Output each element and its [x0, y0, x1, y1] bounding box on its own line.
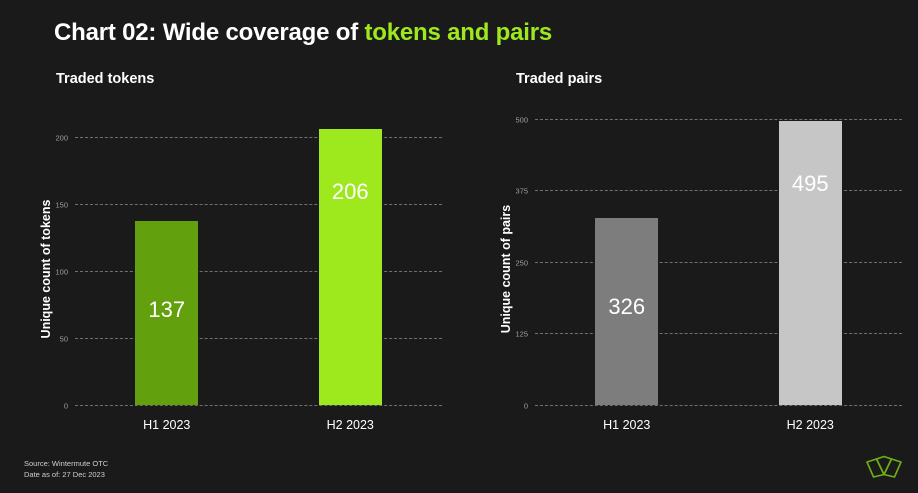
gridline-pairs-250: 250	[535, 262, 902, 263]
x-tick-label-tokens-h1-2023: H1 2023	[143, 418, 190, 432]
x-tick-label-pairs-h2-2023: H2 2023	[787, 418, 834, 432]
y-tick-label-pairs-500: 500	[515, 115, 528, 124]
y-tick-label-tokens-100: 100	[55, 267, 68, 276]
x-tick-label-pairs-h1-2023: H1 2023	[603, 418, 650, 432]
gridline-tokens-100: 100	[75, 271, 442, 272]
chart-slide: Chart 02: Wide coverage of tokens and pa…	[0, 0, 918, 493]
gridline-pairs-125: 125	[535, 333, 902, 334]
bar-value-label-pairs-h2-2023: 495	[779, 171, 842, 197]
bar-tokens-h1-2023[interactable]: 137H1 2023	[135, 221, 198, 405]
bar-pairs-h2-2023[interactable]: 495H2 2023	[779, 121, 842, 405]
y-tick-label-pairs-125: 125	[515, 330, 528, 339]
gridline-tokens-150: 150	[75, 204, 442, 205]
bar-value-label-pairs-h1-2023: 326	[595, 294, 658, 320]
y-tick-label-tokens-200: 200	[55, 133, 68, 142]
y-tick-label-tokens-0: 0	[64, 402, 68, 411]
gridline-tokens-0: 0	[75, 405, 442, 406]
footer-source: Source: Wintermute OTC	[24, 459, 108, 470]
gridline-tokens-50: 50	[75, 338, 442, 339]
gridline-tokens-200: 200	[75, 137, 442, 138]
y-axis-title-pairs: Unique count of pairs	[499, 169, 513, 369]
title-prefix: Chart 02: Wide coverage of	[54, 19, 364, 46]
footer-date: Date as of: 27 Dec 2023	[24, 470, 108, 481]
plot-area-traded-tokens: 050100150200137H1 2023206H2 2023	[75, 110, 442, 405]
gridline-pairs-0: 0	[535, 405, 902, 406]
chart-panel-traded-pairs: Traded pairs Unique count of pairs 01252…	[482, 66, 902, 436]
plot-area-traded-pairs: 0125250375500326H1 2023495H2 2023	[535, 110, 902, 405]
bar-value-label-tokens-h1-2023: 137	[135, 297, 198, 323]
chart-panel-traded-tokens: Traded tokens Unique count of tokens 050…	[22, 66, 442, 436]
bar-value-label-tokens-h2-2023: 206	[319, 179, 382, 205]
y-tick-label-pairs-250: 250	[515, 258, 528, 267]
y-tick-label-pairs-0: 0	[524, 402, 528, 411]
title-accent: tokens and pairs	[364, 19, 552, 46]
page-title: Chart 02: Wide coverage of tokens and pa…	[54, 19, 552, 47]
gridline-pairs-375: 375	[535, 190, 902, 191]
y-tick-label-tokens-50: 50	[60, 334, 68, 343]
y-tick-label-pairs-375: 375	[515, 187, 528, 196]
x-tick-label-tokens-h2-2023: H2 2023	[327, 418, 374, 432]
footer-note: Source: Wintermute OTC Date as of: 27 De…	[24, 459, 108, 481]
chart-title-traded-pairs: Traded pairs	[516, 71, 602, 87]
gridline-pairs-500: 500	[535, 119, 902, 120]
bar-tokens-h2-2023[interactable]: 206H2 2023	[319, 129, 382, 405]
bar-pairs-h1-2023[interactable]: 326H1 2023	[595, 218, 658, 405]
y-axis-title-tokens: Unique count of tokens	[39, 169, 53, 369]
chart-title-traded-tokens: Traded tokens	[56, 71, 154, 87]
y-tick-label-tokens-150: 150	[55, 200, 68, 209]
wintermute-logo-icon	[864, 452, 904, 484]
